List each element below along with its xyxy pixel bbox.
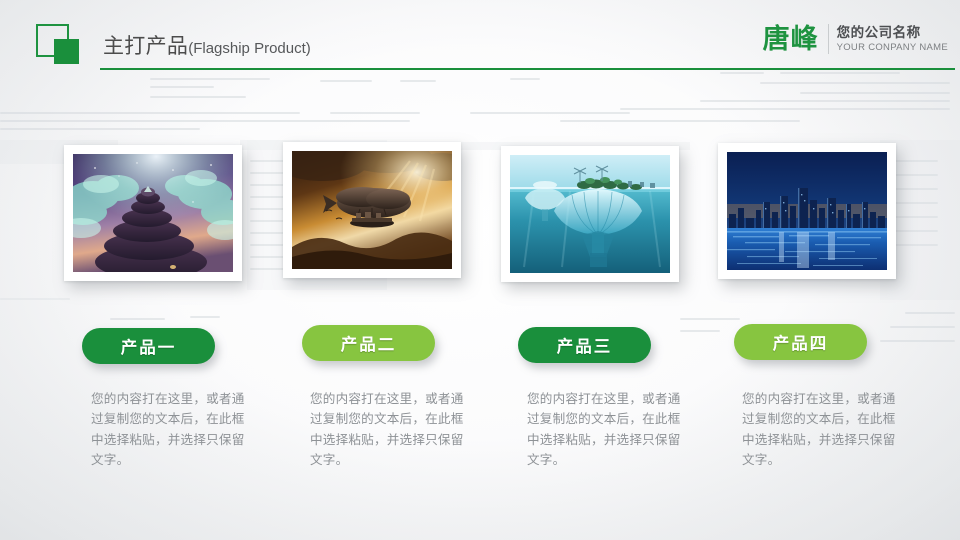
product-description-1: 您的内容打在这里，或者通过复制您的文本后，在此框中选择粘贴，并选择只保留文字。 xyxy=(91,389,253,471)
product-image-3 xyxy=(510,155,670,273)
product-button-2[interactable]: 产品二 xyxy=(302,325,435,361)
product-button-label-3: 产品三 xyxy=(557,333,613,357)
product-button-label-2: 产品二 xyxy=(341,331,397,355)
product-description-2: 您的内容打在这里，或者通过复制您的文本后，在此框中选择粘贴，并选择只保留文字。 xyxy=(310,389,472,471)
photo-frame-3 xyxy=(501,146,679,282)
product-button-3[interactable]: 产品三 xyxy=(518,327,651,363)
product-description-4: 您的内容打在这里，或者通过复制您的文本后，在此框中选择粘贴，并选择只保留文字。 xyxy=(742,389,904,471)
product-description-3: 您的内容打在这里，或者通过复制您的文本后，在此框中选择粘贴，并选择只保留文字。 xyxy=(527,389,689,471)
photo-frame-2 xyxy=(283,142,461,278)
product-image-2 xyxy=(292,151,452,269)
product-image-1 xyxy=(73,154,233,272)
slide-canvas: 主打产品(Flagship Product) 唐峰 您的公司名称 YOUR CO… xyxy=(0,0,960,540)
photo-frame-1 xyxy=(64,145,242,281)
product-cards: 产品一 您的内容打在这里，或者通过复制您的文本后，在此框中选择粘贴，并选择只保留… xyxy=(0,0,960,540)
product-button-label-1: 产品一 xyxy=(121,334,177,358)
product-button-4[interactable]: 产品四 xyxy=(734,324,867,360)
product-button-label-4: 产品四 xyxy=(773,330,829,354)
product-button-1[interactable]: 产品一 xyxy=(82,328,215,364)
photo-frame-4 xyxy=(718,143,896,279)
product-image-4 xyxy=(727,152,887,270)
